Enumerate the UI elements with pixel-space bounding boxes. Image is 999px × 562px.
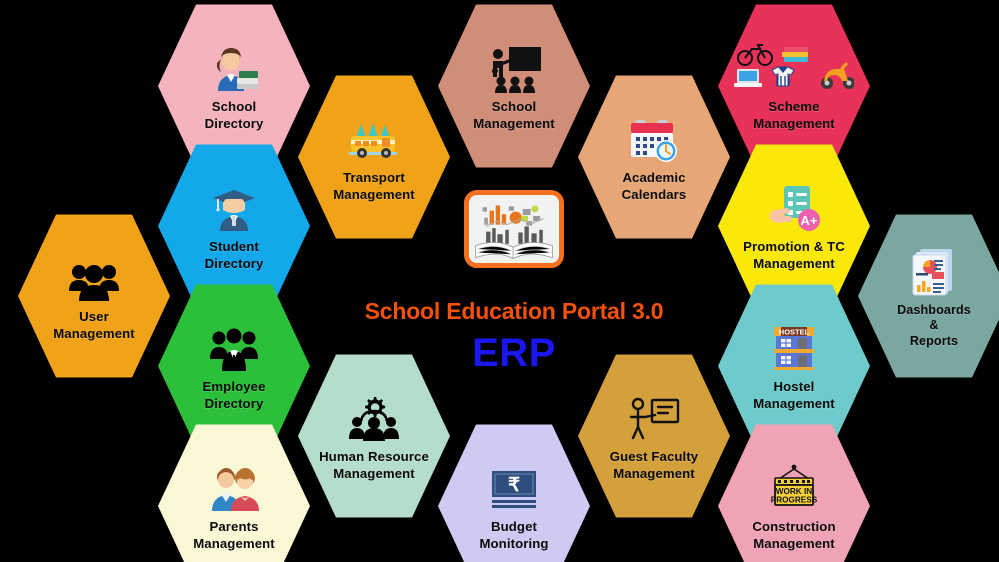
- user-group-icon: [68, 249, 120, 303]
- parents-couple-icon: [207, 459, 261, 513]
- hex-label-construction-management: Construction Management: [752, 519, 835, 553]
- center-branding: School Education Portal 3.0 ERP: [369, 190, 659, 400]
- diagram-canvas: School Directory Transport Management: [0, 0, 999, 562]
- hex-tile-dashboards-reports[interactable]: Dashboards & Reports: [858, 212, 999, 380]
- erp-subtitle: ERP: [472, 333, 556, 373]
- hostel-building-icon: HOSTEL: [766, 319, 822, 373]
- hex-tile-school-management[interactable]: School Management: [438, 2, 590, 170]
- hex-tile-budget-monitoring[interactable]: ₹ Budget Monitoring: [438, 422, 590, 562]
- hex-label-dashboards-reports: Dashboards & Reports: [897, 303, 971, 348]
- svg-text:₹: ₹: [508, 475, 520, 496]
- hex-tile-parents-management[interactable]: Parents Management: [158, 422, 310, 562]
- hex-label-promotion-tc-management: Promotion & TC Management: [743, 239, 845, 273]
- work-in-progress-sign-icon: WORK IN PROGRESS: [766, 459, 822, 513]
- calendar-clock-icon: [627, 110, 681, 164]
- hex-label-school-directory: School Directory: [205, 99, 264, 133]
- portal-title: School Education Portal 3.0: [365, 298, 664, 325]
- report-card-aplus-icon: A+: [766, 179, 822, 233]
- open-book-infographic-icon: [464, 190, 564, 268]
- report-chart-document-icon: [908, 243, 960, 297]
- hex-label-budget-monitoring: Budget Monitoring: [479, 519, 548, 553]
- hex-label-employee-directory: Employee Directory: [202, 379, 265, 413]
- hex-label-human-resource-management: Human Resource Management: [319, 449, 429, 483]
- svg-text:HOSTEL: HOSTEL: [779, 328, 810, 337]
- hex-label-student-directory: Student Directory: [205, 239, 264, 273]
- svg-text:PROGRESS: PROGRESS: [771, 496, 818, 505]
- hex-label-hostel-management: Hostel Management: [753, 379, 835, 413]
- svg-text:A+: A+: [801, 213, 818, 228]
- hex-label-guest-faculty-management: Guest Faculty Management: [610, 449, 699, 483]
- svg-text:₹: ₹: [802, 65, 816, 90]
- employee-team-icon: [208, 319, 260, 373]
- hex-label-scheme-management: Scheme Management: [753, 99, 835, 133]
- graduate-student-icon: [210, 179, 258, 233]
- hex-tile-construction-management[interactable]: WORK IN PROGRESS Construction Management: [718, 422, 870, 562]
- woman-with-books-icon: [208, 39, 260, 93]
- school-bus-icon: [346, 110, 402, 164]
- hex-tile-user-management[interactable]: User Management: [18, 212, 170, 380]
- hex-label-school-management: School Management: [473, 99, 555, 133]
- teacher-blackboard-class-icon: [486, 39, 542, 93]
- hex-label-user-management: User Management: [53, 309, 135, 343]
- rupee-banknote-icon: ₹: [488, 459, 540, 513]
- hex-label-parents-management: Parents Management: [193, 519, 275, 553]
- scheme-benefits-icon: ₹: [734, 39, 854, 93]
